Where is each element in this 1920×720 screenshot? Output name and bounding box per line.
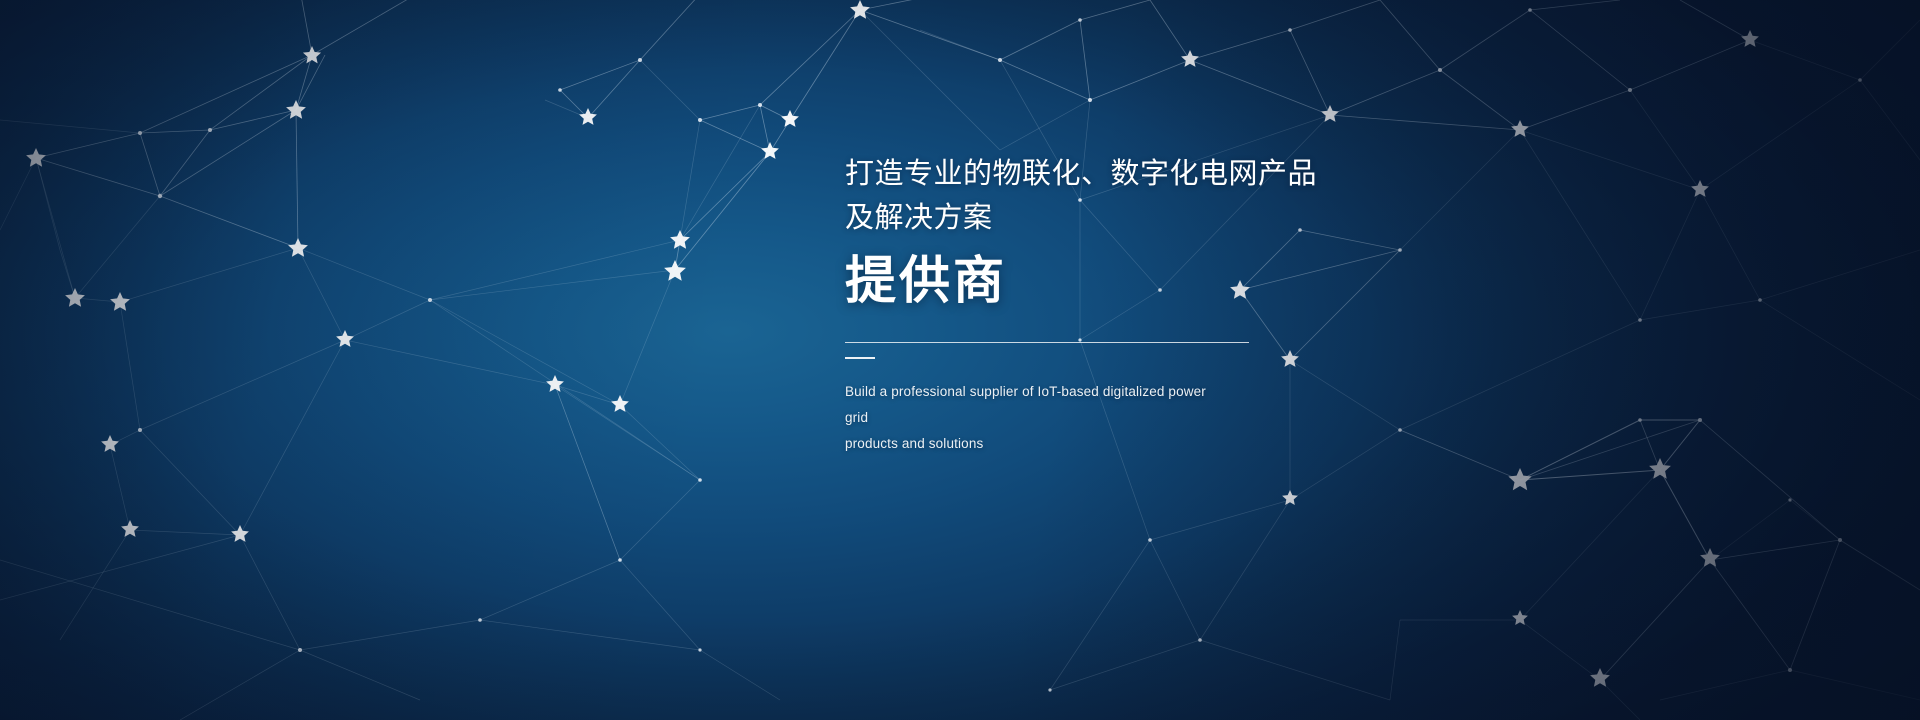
hero-headline-strong: 提供商 xyxy=(845,248,1485,314)
hero-headline: 打造专业的物联化、数字化电网产品 及解决方案 xyxy=(845,152,1485,240)
hero-banner: 打造专业的物联化、数字化电网产品 及解决方案 提供商 Build a profe… xyxy=(0,0,1920,720)
hero-copy-block: 打造专业的物联化、数字化电网产品 及解决方案 提供商 Build a profe… xyxy=(845,152,1485,457)
divider-long-rule xyxy=(845,342,1249,343)
divider-short-rule xyxy=(845,357,875,359)
hero-subcopy: Build a professional supplier of IoT-bas… xyxy=(845,379,1225,457)
hero-divider xyxy=(845,342,1485,359)
